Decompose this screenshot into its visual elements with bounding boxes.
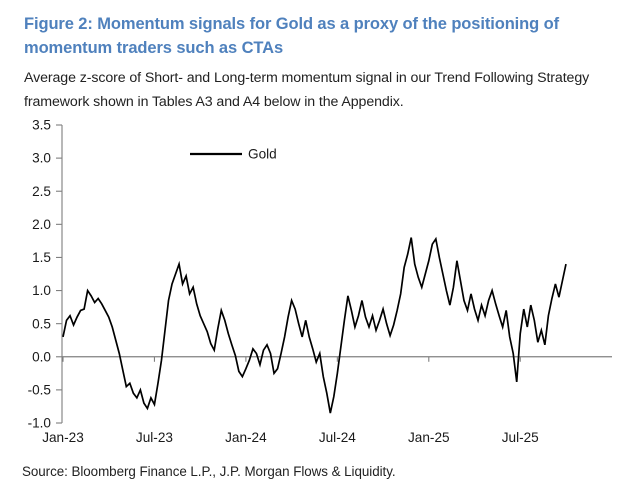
y-tick-label: 2.5 (32, 184, 51, 199)
y-tick-label: -0.5 (28, 382, 51, 397)
y-axis-ticks: 3.53.02.52.01.51.00.50.0-0.5-1.0 (28, 118, 62, 431)
figure-container: Figure 2: Momentum signals for Gold as a… (0, 0, 636, 493)
x-tick-label: Jan-24 (225, 430, 267, 445)
x-axis-ticks: Jan-23Jul-23Jan-24Jul-24Jan-25Jul-25 (42, 357, 539, 445)
x-tick-label: Jul-24 (319, 430, 356, 445)
x-tick-label: Jul-25 (502, 430, 539, 445)
y-tick-label: -1.0 (28, 416, 52, 431)
y-tick-label: 2.0 (32, 217, 51, 232)
gold-series-line (63, 238, 566, 413)
figure-title: Figure 2: Momentum signals for Gold as a… (24, 12, 594, 60)
figure-source: Source: Bloomberg Finance L.P., J.P. Mor… (22, 464, 396, 479)
y-tick-label: 3.5 (32, 118, 51, 133)
y-tick-label: 3.0 (32, 151, 51, 166)
legend-label-gold: Gold (248, 147, 277, 162)
x-tick-label: Jul-23 (136, 430, 173, 445)
y-tick-label: 1.0 (32, 283, 51, 298)
gold-momentum-line-chart: 3.53.02.52.01.51.00.50.0-0.5-1.0 Jan-23J… (0, 112, 636, 457)
figure-subtitle: Average z-score of Short- and Long-term … (24, 66, 604, 114)
y-tick-label: 0.0 (32, 349, 51, 364)
chart-plot-area: 3.53.02.52.01.51.00.50.0-0.5-1.0 Jan-23J… (0, 112, 636, 457)
x-tick-label: Jan-23 (42, 430, 84, 445)
chart-legend: Gold (190, 147, 277, 162)
y-tick-label: 0.5 (32, 316, 51, 331)
x-tick-label: Jan-25 (408, 430, 450, 445)
y-tick-label: 1.5 (32, 250, 51, 265)
